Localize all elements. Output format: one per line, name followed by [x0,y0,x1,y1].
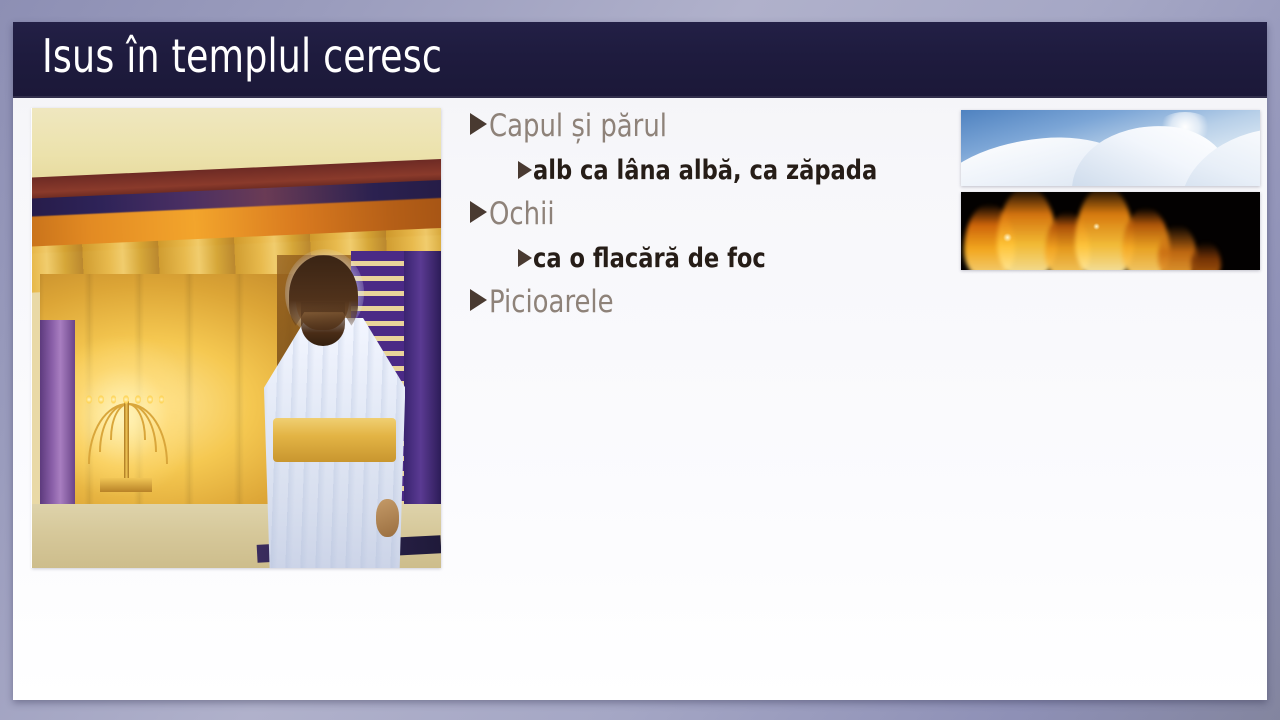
menorah-flame [86,395,92,404]
menorah-icon [85,393,167,494]
list-item: Ochii [470,192,950,237]
slide-frame: Isus în templul ceresc [0,0,1280,720]
list-item-label: Capul și părul [489,104,667,149]
list-item-label: Picioarele [489,280,614,325]
triangle-bullet-icon [518,249,532,267]
list-item: ca o flacără de foc [518,238,950,279]
page-title: Isus în templul ceresc [42,29,442,83]
temple-right-curtain [404,251,441,513]
menorah-flame [111,395,117,404]
hand [376,499,400,537]
triangle-bullet-icon [518,161,532,179]
jesus-figure [261,255,408,568]
list-item-label: Ochii [489,192,555,237]
menorah-flame [147,395,153,404]
triangle-bullet-icon [470,289,487,311]
list-item: Capul și părul [470,104,950,149]
menorah-stem [124,401,129,482]
triangle-bullet-icon [470,201,487,223]
list-item: Picioarele [470,280,950,325]
jesus-in-sanctuary-photo [32,108,441,568]
menorah-base [100,478,152,492]
fire-photo [961,192,1260,270]
list-item-label: alb ca lâna albă, ca zăpada [533,150,877,191]
gold-sash [273,418,397,462]
menorah-flame [123,395,129,404]
menorah-flame [159,395,165,404]
menorah-flame [98,395,104,404]
menorah-flame [135,395,141,404]
triangle-bullet-icon [470,113,487,135]
list-item: alb ca lâna albă, ca zăpada [518,150,950,191]
snow-photo [961,110,1260,186]
list-item-label: ca o flacără de foc [533,238,766,279]
beard [301,302,345,346]
ember [1093,223,1100,230]
title-banner: Isus în templul ceresc [13,22,1267,98]
ember [1003,233,1012,242]
bullet-list: Capul și părul alb ca lâna albă, ca zăpa… [470,104,950,326]
